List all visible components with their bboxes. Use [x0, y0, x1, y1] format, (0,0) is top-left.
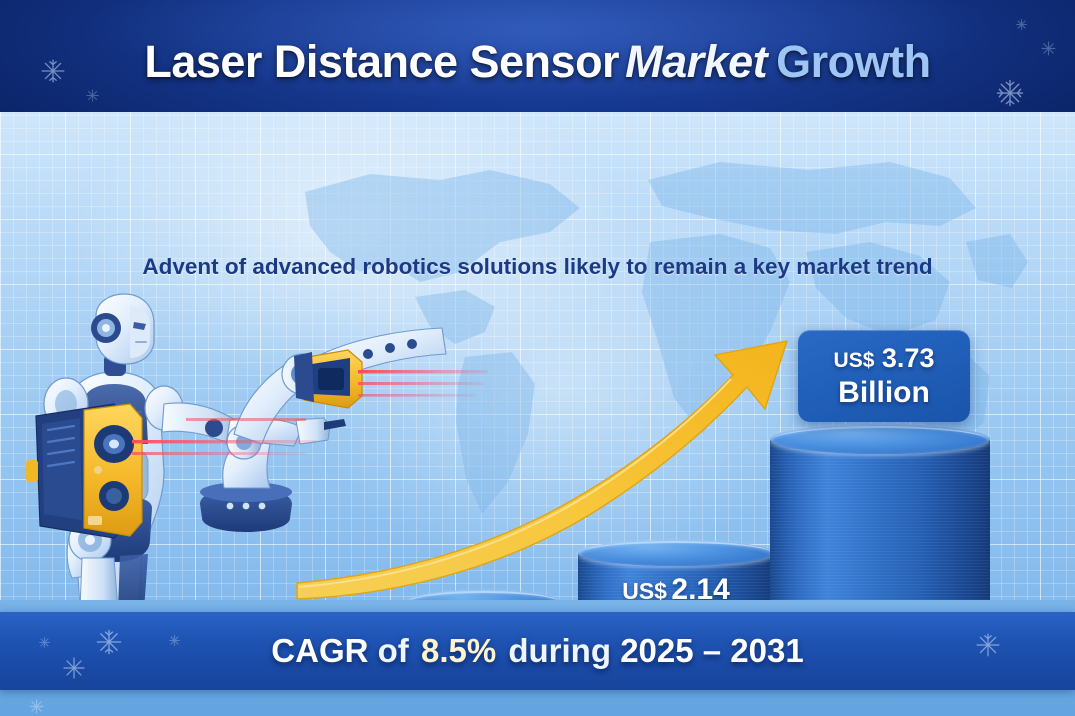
handheld-laser-sensor-graphic: [26, 404, 142, 538]
snowflake-icon: [28, 698, 45, 715]
callout-amount: 3.73: [882, 343, 935, 373]
bar-body: [770, 438, 990, 610]
callout-currency: US$: [834, 349, 875, 372]
callout-unit: Billion: [838, 376, 930, 409]
bar-top-ellipse: [770, 424, 990, 454]
callout-line-amount: US$ 3.73: [834, 343, 935, 376]
subtitle: Advent of advanced robotics solutions li…: [0, 254, 1075, 280]
bar-texture: [770, 438, 990, 610]
snowflake-icon: [1015, 18, 1028, 31]
cagr-during: during: [508, 632, 611, 670]
cagr-of: of: [378, 632, 409, 670]
snowflake-icon: [85, 88, 100, 103]
bar-top-ellipse: [578, 540, 774, 566]
body-background: Advent of advanced robotics solutions li…: [0, 112, 1075, 610]
bar-cylinder-2031: 2031: [770, 424, 990, 610]
footer-band: CAGR of 8.5% during 2025 – 2031: [0, 612, 1075, 690]
title-accent: Growth: [767, 36, 930, 87]
cagr-statement: CAGR of 8.5% during 2025 – 2031: [0, 612, 1075, 690]
cagr-value: 8.5%: [418, 632, 499, 670]
title-primary: Laser Distance Sensor: [144, 36, 619, 87]
header-banner: Laser Distance SensorMarketGrowth: [0, 0, 1075, 118]
title-italic: Market: [619, 36, 767, 87]
value-callout-2031: US$ 3.73 Billion: [798, 330, 970, 422]
cagr-period: 2025 – 2031: [620, 632, 804, 670]
footer-banner: CAGR of 8.5% during 2025 – 2031: [0, 600, 1075, 716]
laser-beam-graphic: [186, 418, 306, 421]
infographic-root: Laser Distance SensorMarketGrowth Advent…: [0, 0, 1075, 716]
cagr-prefix: CAGR: [271, 632, 368, 670]
page-title: Laser Distance SensorMarketGrowth: [0, 36, 1075, 88]
